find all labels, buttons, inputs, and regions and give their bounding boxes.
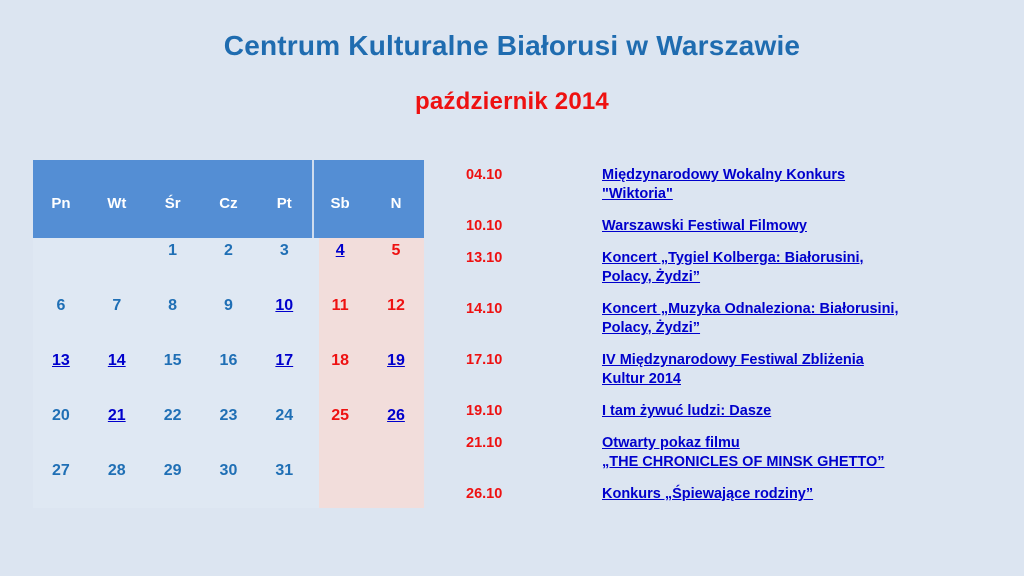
event-date: 26.10 bbox=[466, 485, 602, 504]
calendar-day-6: 6 bbox=[33, 293, 89, 348]
event-date: 19.10 bbox=[466, 402, 602, 421]
calendar-day-4[interactable]: 4 bbox=[312, 238, 368, 293]
event-title-line: "Wiktoria" bbox=[602, 185, 673, 204]
event-date: 21.10 bbox=[466, 434, 602, 453]
event-title-line: „THE CHRONICLES OF MINSK GHETTO” bbox=[602, 453, 885, 472]
event-title-line: Otwarty pokaz filmu bbox=[602, 434, 740, 453]
event-title-line: Międzynarodowy Wokalny Konkurs bbox=[602, 166, 845, 185]
event-title-line: IV Międzynarodowy Festiwal Zbliżenia bbox=[602, 351, 864, 370]
calendar-weekday-header: PnWtŚrCzPtSbN bbox=[33, 160, 424, 238]
event-title-line: Polacy, Żydzi” bbox=[602, 319, 700, 338]
calendar-day-empty bbox=[312, 458, 368, 513]
calendar-day-19[interactable]: 19 bbox=[368, 348, 424, 403]
calendar: PnWtŚrCzPtSbN 12345678910111213141516171… bbox=[33, 160, 424, 508]
event-date: 14.10 bbox=[466, 300, 602, 319]
calendar-weekday-pn: Pn bbox=[33, 160, 89, 238]
event-title-link[interactable]: IV Międzynarodowy Festiwal ZbliżeniaKult… bbox=[602, 351, 996, 389]
events-list: 04.10Międzynarodowy Wokalny Konkurs"Wikt… bbox=[466, 166, 996, 517]
event-title-line: Konkurs „Śpiewające rodziny” bbox=[602, 485, 813, 504]
calendar-day-13[interactable]: 13 bbox=[33, 348, 89, 403]
event-row: 21.10Otwarty pokaz filmu„THE CHRONICLES … bbox=[466, 434, 996, 472]
calendar-day-14[interactable]: 14 bbox=[89, 348, 145, 403]
calendar-day-15: 15 bbox=[145, 348, 201, 403]
event-row: 10.10Warszawski Festiwal Filmowy bbox=[466, 217, 996, 236]
calendar-day-12: 12 bbox=[368, 293, 424, 348]
calendar-day-10[interactable]: 10 bbox=[256, 293, 312, 348]
calendar-day-3: 3 bbox=[256, 238, 312, 293]
page-subtitle-month: październik 2014 bbox=[0, 88, 1024, 116]
calendar-day-11: 11 bbox=[312, 293, 368, 348]
calendar-day-27: 27 bbox=[33, 458, 89, 513]
calendar-weekday-n: N bbox=[368, 160, 424, 238]
event-row: 26.10Konkurs „Śpiewające rodziny” bbox=[466, 485, 996, 504]
event-date: 13.10 bbox=[466, 249, 602, 268]
event-date: 10.10 bbox=[466, 217, 602, 236]
calendar-day-24: 24 bbox=[256, 403, 312, 458]
calendar-day-26[interactable]: 26 bbox=[368, 403, 424, 458]
event-title-line: Warszawski Festiwal Filmowy bbox=[602, 217, 807, 236]
calendar-day-28: 28 bbox=[89, 458, 145, 513]
calendar-day-5: 5 bbox=[368, 238, 424, 293]
calendar-day-7: 7 bbox=[89, 293, 145, 348]
calendar-day-30: 30 bbox=[201, 458, 257, 513]
calendar-day-grid: 1234567891011121314151617181920212223242… bbox=[33, 238, 424, 513]
calendar-day-empty bbox=[89, 238, 145, 293]
event-title-link[interactable]: I tam żywuć ludzi: Dasze bbox=[602, 402, 996, 421]
calendar-day-18: 18 bbox=[312, 348, 368, 403]
event-date: 17.10 bbox=[466, 351, 602, 370]
event-title-link[interactable]: Koncert „Tygiel Kolberga: Białorusini,Po… bbox=[602, 249, 996, 287]
calendar-weekday-śr: Śr bbox=[145, 160, 201, 238]
event-title-link[interactable]: Warszawski Festiwal Filmowy bbox=[602, 217, 996, 236]
event-title-link[interactable]: Otwarty pokaz filmu„THE CHRONICLES OF MI… bbox=[602, 434, 996, 472]
event-row: 14.10Koncert „Muzyka Odnaleziona: Białor… bbox=[466, 300, 996, 338]
calendar-day-16: 16 bbox=[201, 348, 257, 403]
calendar-day-8: 8 bbox=[145, 293, 201, 348]
calendar-day-23: 23 bbox=[201, 403, 257, 458]
calendar-weekday-pt: Pt bbox=[256, 160, 312, 238]
event-row: 17.10IV Międzynarodowy Festiwal Zbliżeni… bbox=[466, 351, 996, 389]
calendar-day-21[interactable]: 21 bbox=[89, 403, 145, 458]
calendar-day-2: 2 bbox=[201, 238, 257, 293]
calendar-day-25: 25 bbox=[312, 403, 368, 458]
calendar-weekday-wt: Wt bbox=[89, 160, 145, 238]
calendar-day-17[interactable]: 17 bbox=[256, 348, 312, 403]
calendar-day-31: 31 bbox=[256, 458, 312, 513]
calendar-weekday-sb: Sb bbox=[312, 160, 368, 238]
calendar-day-9: 9 bbox=[201, 293, 257, 348]
event-title-link[interactable]: Konkurs „Śpiewające rodziny” bbox=[602, 485, 996, 504]
event-title-line: Koncert „Tygiel Kolberga: Białorusini, bbox=[602, 249, 864, 268]
event-date: 04.10 bbox=[466, 166, 602, 185]
event-title-line: I tam żywuć ludzi: Dasze bbox=[602, 402, 771, 421]
event-row: 13.10Koncert „Tygiel Kolberga: Białorusi… bbox=[466, 249, 996, 287]
event-row: 19.10I tam żywuć ludzi: Dasze bbox=[466, 402, 996, 421]
calendar-weekday-cz: Cz bbox=[201, 160, 257, 238]
calendar-day-22: 22 bbox=[145, 403, 201, 458]
calendar-day-empty bbox=[368, 458, 424, 513]
event-title-line: Polacy, Żydzi” bbox=[602, 268, 700, 287]
slide-root: Centrum Kulturalne Białorusi w Warszawie… bbox=[0, 0, 1024, 576]
event-row: 04.10Międzynarodowy Wokalny Konkurs"Wikt… bbox=[466, 166, 996, 204]
page-title: Centrum Kulturalne Białorusi w Warszawie bbox=[0, 30, 1024, 62]
event-title-line: Koncert „Muzyka Odnaleziona: Białorusini… bbox=[602, 300, 899, 319]
event-title-link[interactable]: Koncert „Muzyka Odnaleziona: Białorusini… bbox=[602, 300, 996, 338]
calendar-day-20: 20 bbox=[33, 403, 89, 458]
calendar-day-1: 1 bbox=[145, 238, 201, 293]
calendar-day-29: 29 bbox=[145, 458, 201, 513]
event-title-link[interactable]: Międzynarodowy Wokalny Konkurs"Wiktoria" bbox=[602, 166, 996, 204]
calendar-day-empty bbox=[33, 238, 89, 293]
event-title-line: Kultur 2014 bbox=[602, 370, 681, 389]
